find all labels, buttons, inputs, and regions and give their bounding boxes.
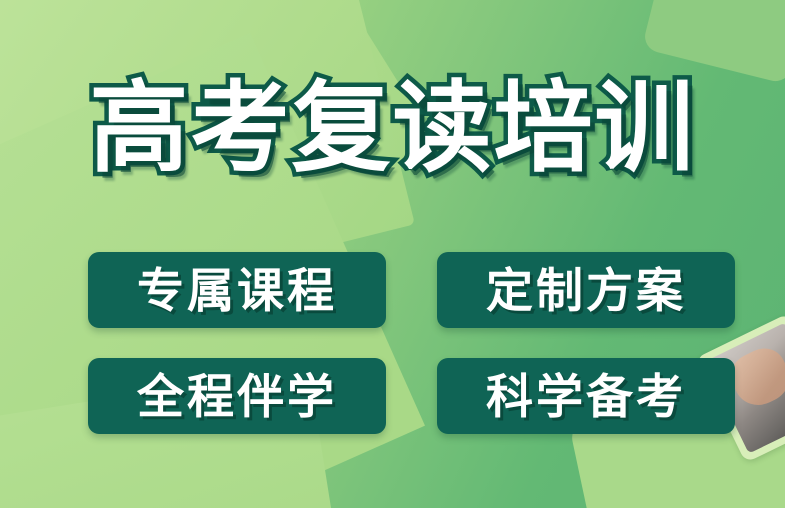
feature-pill-grid: 专属课程 定制方案 全程伴学 科学备考	[88, 252, 736, 434]
feature-pill-label: 定制方案	[486, 267, 686, 314]
feature-pill-exclusive-course[interactable]: 专属课程	[88, 252, 386, 328]
feature-pill-label: 科学备考	[486, 373, 686, 420]
page-title: 高考复读培训	[90, 78, 696, 179]
feature-pill-label: 专属课程	[137, 267, 337, 314]
headline-container: 高考复读培训	[0, 78, 785, 179]
feature-pill-label: 全程伴学	[137, 373, 337, 420]
feature-pill-full-companionship[interactable]: 全程伴学	[88, 358, 386, 434]
feature-pill-custom-plan[interactable]: 定制方案	[437, 252, 735, 328]
promo-poster: 高考复读培训 专属课程 定制方案 全程伴学 科学备考	[0, 0, 785, 508]
feature-pill-scientific-prep[interactable]: 科学备考	[437, 358, 735, 434]
